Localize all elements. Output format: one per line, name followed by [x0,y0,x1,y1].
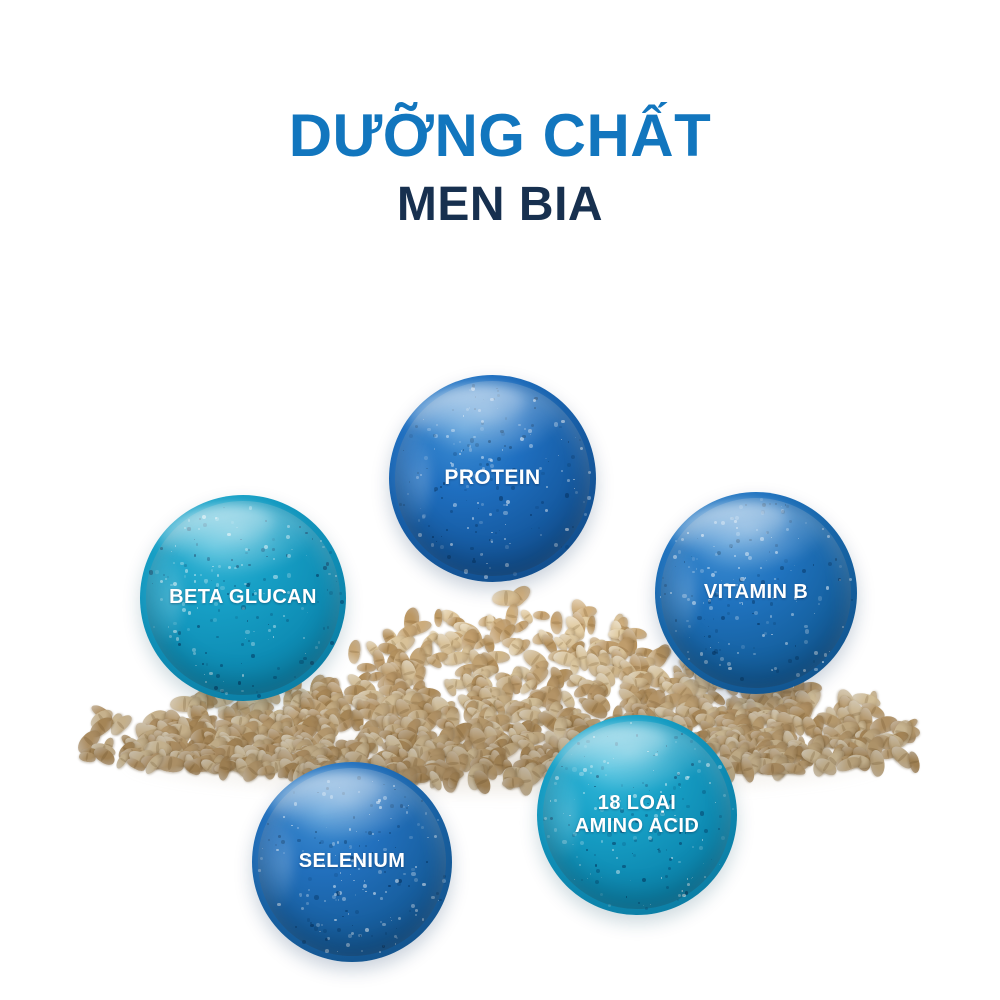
bubble-label-beta-glucan: BETA GLUCAN [169,586,317,609]
barley-grain [492,590,520,606]
barley-grain [907,750,922,774]
bubble-label-vitamin-b: VITAMIN B [704,581,808,604]
infographic-canvas: DƯỠNG CHẤT MEN BIA BETA GLUCAN VITAMIN B… [0,0,1000,1000]
page-title: DƯỠNG CHẤT MEN BIA [0,104,1000,232]
bubble-left-highlight [539,767,579,863]
nutrient-bubble-selenium[interactable]: SELENIUM [252,762,452,962]
bubble-label-selenium: SELENIUM [299,850,406,873]
barley-grain [347,639,361,664]
barley-grain [532,610,550,621]
title-line-primary: DƯỠNG CHẤT [0,104,1000,168]
nutrient-bubble-beta-glucan[interactable]: BETA GLUCAN [140,495,346,701]
barley-grain [357,663,376,672]
nutrient-bubble-amino-acid[interactable]: 18 LOẠI AMINO ACID [537,715,737,915]
title-line-secondary: MEN BIA [0,178,1000,232]
barley-grain [435,608,443,626]
nutrient-bubble-protein[interactable]: PROTEIN [389,375,596,582]
bubble-label-amino-acid: 18 LOẠI AMINO ACID [575,792,699,838]
nutrient-bubble-vitamin-b[interactable]: VITAMIN B [655,492,857,694]
bubble-label-protein: PROTEIN [444,466,540,490]
bubble-left-highlight [254,814,294,910]
barley-grain [550,612,562,635]
